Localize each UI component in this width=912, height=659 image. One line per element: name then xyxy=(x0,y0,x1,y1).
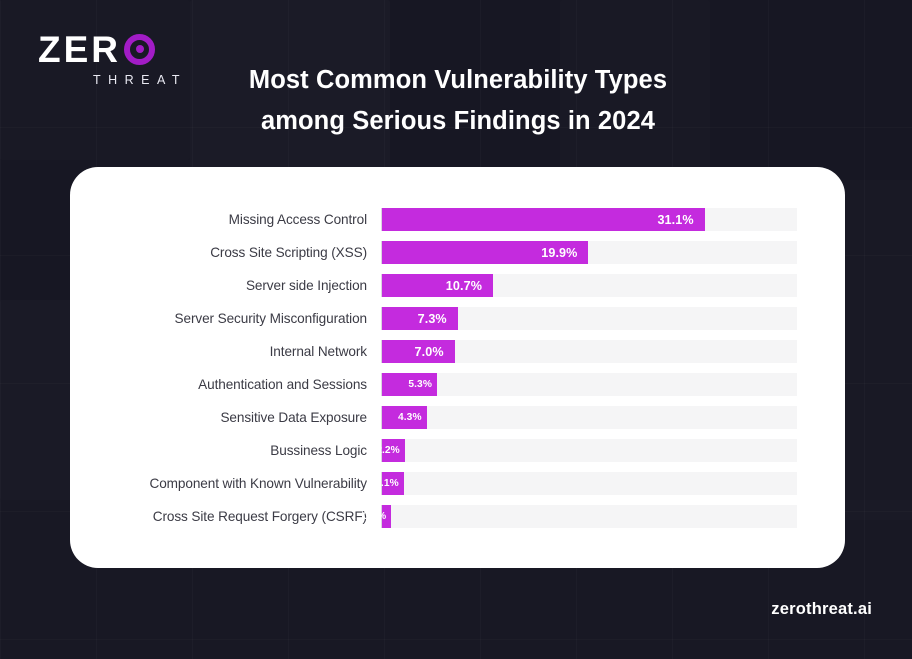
bar: 2.1% xyxy=(382,472,404,495)
bar-track: 7.0% xyxy=(381,340,797,363)
category-label: Server side Injection xyxy=(70,278,381,293)
chart-row: Server side Injection10.7% xyxy=(70,274,845,297)
bar: 19.9% xyxy=(382,241,588,264)
chart-row: Component with Known Vulnerability2.1% xyxy=(70,472,845,495)
bar: 10.7% xyxy=(382,274,493,297)
chart-row: Internal Network7.0% xyxy=(70,340,845,363)
bar: 0.9% xyxy=(382,505,391,528)
infographic-poster: ZER THREAT Most Common Vulnerability Typ… xyxy=(0,0,912,659)
category-label: Sensitive Data Exposure xyxy=(70,410,381,425)
category-label: Authentication and Sessions xyxy=(70,377,381,392)
chart-row: Cross Site Scripting (XSS)19.9% xyxy=(70,241,845,264)
chart-row: Bussiness Logic2.2% xyxy=(70,439,845,462)
target-dot-icon xyxy=(136,45,144,53)
target-ring-icon xyxy=(124,34,155,65)
chart-row: Missing Access Control31.1% xyxy=(70,208,845,231)
bar: 2.2% xyxy=(382,439,405,462)
logo-text: ZER xyxy=(38,31,121,68)
website-footer: zerothreat.ai xyxy=(771,600,872,619)
bar-track: 2.2% xyxy=(381,439,797,462)
bar-track: 2.1% xyxy=(381,472,797,495)
bar-chart: Missing Access Control31.1%Cross Site Sc… xyxy=(70,208,845,528)
bar: 31.1% xyxy=(382,208,705,231)
bar-track: 7.3% xyxy=(381,307,797,330)
category-label: Cross Site Scripting (XSS) xyxy=(70,245,381,260)
chart-card: Missing Access Control31.1%Cross Site Sc… xyxy=(70,167,845,568)
bar-value-label: 19.9% xyxy=(541,246,588,260)
bar-value-label: 4.3% xyxy=(398,412,427,423)
category-label: Cross Site Request Forgery (CSRF) xyxy=(70,509,381,524)
bar-value-label: 7.0% xyxy=(415,345,455,359)
bar-track: 0.9% xyxy=(381,505,797,528)
bar-value-label: 2.1% xyxy=(375,478,404,489)
bar-value-label: 2.2% xyxy=(376,445,405,456)
category-label: Missing Access Control xyxy=(70,212,381,227)
chart-row: Server Security Misconfiguration7.3% xyxy=(70,307,845,330)
bar-value-label: 31.1% xyxy=(657,213,704,227)
bar-track: 5.3% xyxy=(381,373,797,396)
category-label: Bussiness Logic xyxy=(70,443,381,458)
bar: 4.3% xyxy=(382,406,427,429)
title-line-1: Most Common Vulnerability Types xyxy=(196,60,720,101)
chart-row: Sensitive Data Exposure4.3% xyxy=(70,406,845,429)
category-label: Internal Network xyxy=(70,344,381,359)
bar-value-label: 7.3% xyxy=(418,312,458,326)
category-label: Component with Known Vulnerability xyxy=(70,476,381,491)
bar-value-label: 0.9% xyxy=(363,511,392,522)
category-label: Server Security Misconfiguration xyxy=(70,311,381,326)
bar: 7.0% xyxy=(382,340,455,363)
title-line-2: among Serious Findings in 2024 xyxy=(196,101,720,142)
bar: 7.3% xyxy=(382,307,458,330)
bar: 5.3% xyxy=(382,373,437,396)
bar-track: 10.7% xyxy=(381,274,797,297)
bar-value-label: 5.3% xyxy=(408,379,437,390)
bar-track: 19.9% xyxy=(381,241,797,264)
bar-value-label: 10.7% xyxy=(446,279,493,293)
chart-row: Cross Site Request Forgery (CSRF)0.9% xyxy=(70,505,845,528)
bar-track: 4.3% xyxy=(381,406,797,429)
chart-row: Authentication and Sessions5.3% xyxy=(70,373,845,396)
page-title: Most Common Vulnerability Types among Se… xyxy=(196,60,720,143)
bar-track: 31.1% xyxy=(381,208,797,231)
